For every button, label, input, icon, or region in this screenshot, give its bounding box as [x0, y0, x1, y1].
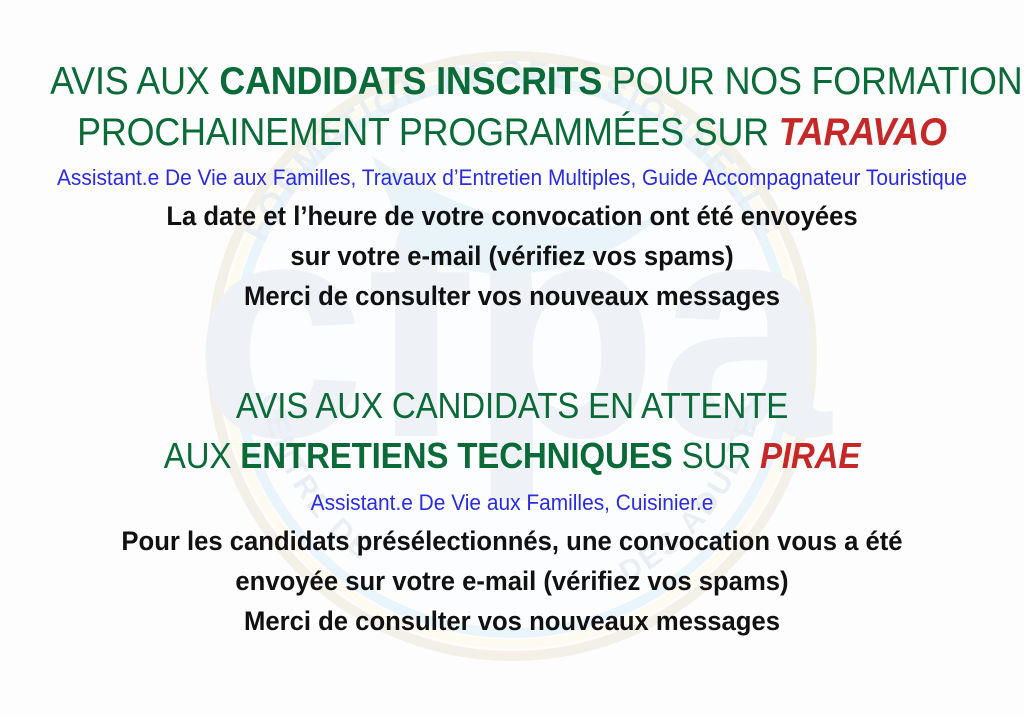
- notice-two-body-line-2: envoyée sur votre e-mail (vérifiez vos s…: [35, 568, 989, 595]
- notice-two-body-line-1: Pour les candidats présélectionnés, une …: [35, 528, 989, 555]
- notice-one-body-line-3: Merci de consulter vos nouveaux messages: [35, 283, 989, 310]
- notice-one-heading-line-2: PROCHAINEMENT PROGRAMMÉES SUR TARAVAO: [50, 113, 974, 152]
- notice-one-location: TARAVAO: [779, 111, 947, 154]
- heading-one-text-before: AVIS AUX: [50, 60, 219, 103]
- notice-one-body-line-2: sur votre e-mail (vérifiez vos spams): [35, 243, 989, 270]
- heading-one-text-after: POUR NOS FORMATIONS: [602, 60, 1024, 103]
- heading-two-text-before: PROCHAINEMENT PROGRAMMÉES SUR: [77, 111, 779, 154]
- notice-content: AVIS AUX CANDIDATS INSCRITS POUR NOS FOR…: [0, 0, 1024, 717]
- notice-two-heading-line-2: AUX ENTRETIENS TECHNIQUES SUR PIRAE: [50, 438, 974, 474]
- heading-two-b-text-before: AUX: [164, 435, 241, 476]
- heading-two-b-emphasis: ENTRETIENS TECHNIQUES: [240, 435, 672, 476]
- notice-two-heading-line-1: AVIS AUX CANDIDATS EN ATTENTE: [50, 388, 974, 424]
- notice-two-body-line-3: Merci de consulter vos nouveaux messages: [35, 608, 989, 635]
- notice-two-location: PIRAE: [760, 435, 860, 476]
- notice-two-block: AVIS AUX CANDIDATS EN ATTENTE AUX ENTRET…: [10, 388, 1014, 635]
- notice-one-courses: Assistant.e De Vie aux Familles, Travaux…: [35, 167, 989, 189]
- notice-one-body-line-1: La date et l’heure de votre convocation …: [35, 203, 989, 230]
- heading-two-b-text-after: SUR: [673, 435, 760, 476]
- poster-canvas: cfpa FORMATION PROFESSIONNELLE CENTRE DE…: [0, 0, 1024, 717]
- notice-one-heading-line-1: AVIS AUX CANDIDATS INSCRITS POUR NOS FOR…: [50, 62, 974, 101]
- notice-two-courses: Assistant.e De Vie aux Familles, Cuisini…: [35, 492, 989, 514]
- heading-one-emphasis: CANDIDATS INSCRITS: [219, 60, 602, 103]
- notice-one-block: AVIS AUX CANDIDATS INSCRITS POUR NOS FOR…: [10, 62, 1014, 310]
